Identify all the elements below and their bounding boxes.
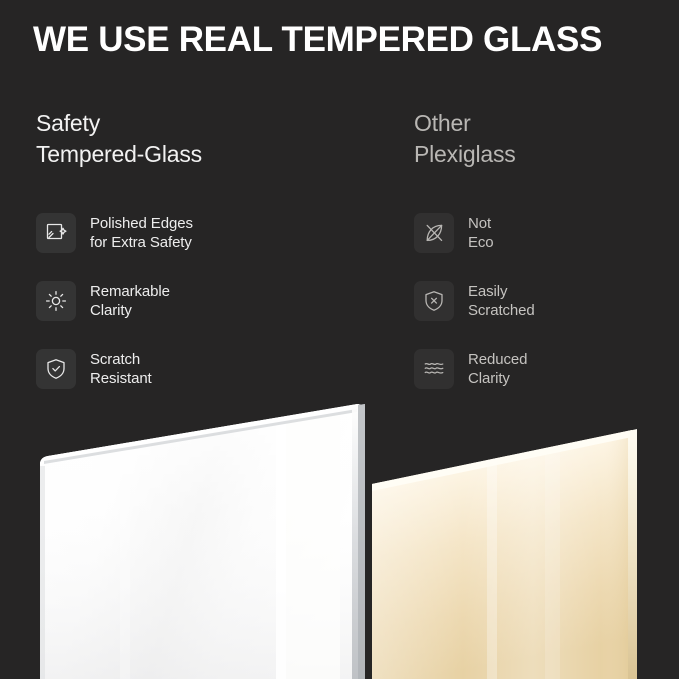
leaf-crossed-out-icon bbox=[414, 213, 454, 253]
feature-reduced-clarity-line2: Clarity bbox=[468, 369, 527, 388]
feature-label-not-eco: Not Eco bbox=[468, 214, 494, 252]
plexiglass-panel bbox=[372, 429, 637, 679]
column-title-safety: Safety Tempered-Glass bbox=[36, 108, 366, 170]
feature-not-eco: Not Eco bbox=[414, 210, 664, 256]
column-title-plexiglass-line1: Other bbox=[414, 110, 471, 136]
feature-label-easily-scratched: Easily Scratched bbox=[468, 282, 535, 320]
feature-remarkable-clarity-line1: Remarkable bbox=[90, 283, 170, 300]
tempered-glass-panel bbox=[40, 404, 365, 679]
comparison-infographic: WE USE REAL TEMPERED GLASS Safety Temper… bbox=[0, 0, 679, 679]
product-glass-panels-image bbox=[0, 392, 679, 679]
feature-scratch-resistant-line1: Scratch bbox=[90, 351, 140, 368]
feature-label-polished-edges: Polished Edges for Extra Safety bbox=[90, 214, 193, 252]
feature-scratch-resistant-line2: Resistant bbox=[90, 369, 152, 388]
feature-not-eco-line1: Not bbox=[468, 215, 491, 232]
feature-polished-edges-line1: Polished Edges bbox=[90, 215, 193, 232]
feature-list-safety: Polished Edges for Extra Safety Remarkab… bbox=[36, 210, 366, 414]
feature-label-reduced-clarity: Reduced Clarity bbox=[468, 350, 527, 388]
feature-reduced-clarity: Reduced Clarity bbox=[414, 346, 664, 392]
feature-easily-scratched: Easily Scratched bbox=[414, 278, 664, 324]
column-title-plexiglass-line2: Plexiglass bbox=[414, 139, 664, 170]
feature-list-plexiglass: Not Eco Easily Scratched bbox=[414, 210, 664, 414]
feature-easily-scratched-line1: Easily bbox=[468, 283, 507, 300]
polished-edges-icon bbox=[36, 213, 76, 253]
feature-label-remarkable-clarity: Remarkable Clarity bbox=[90, 282, 170, 320]
wavy-lines-icon bbox=[414, 349, 454, 389]
column-title-safety-line1: Safety bbox=[36, 110, 100, 136]
feature-easily-scratched-line2: Scratched bbox=[468, 301, 535, 320]
column-other-plexiglass: Other Plexiglass Not Eco bbox=[414, 108, 664, 170]
column-safety-tempered-glass: Safety Tempered-Glass Polished Edges for… bbox=[36, 108, 366, 170]
column-title-plexiglass: Other Plexiglass bbox=[414, 108, 664, 170]
feature-reduced-clarity-line1: Reduced bbox=[468, 351, 527, 368]
column-title-safety-line2: Tempered-Glass bbox=[36, 139, 366, 170]
feature-polished-edges: Polished Edges for Extra Safety bbox=[36, 210, 366, 256]
feature-label-scratch-resistant: Scratch Resistant bbox=[90, 350, 152, 388]
feature-scratch-resistant: Scratch Resistant bbox=[36, 346, 366, 392]
feature-polished-edges-line2: for Extra Safety bbox=[90, 233, 193, 252]
brightness-sun-icon bbox=[36, 281, 76, 321]
feature-not-eco-line2: Eco bbox=[468, 233, 494, 252]
page-title: WE USE REAL TEMPERED GLASS bbox=[33, 18, 653, 62]
shield-x-icon bbox=[414, 281, 454, 321]
shield-check-icon bbox=[36, 349, 76, 389]
feature-remarkable-clarity-line2: Clarity bbox=[90, 301, 170, 320]
feature-remarkable-clarity: Remarkable Clarity bbox=[36, 278, 366, 324]
